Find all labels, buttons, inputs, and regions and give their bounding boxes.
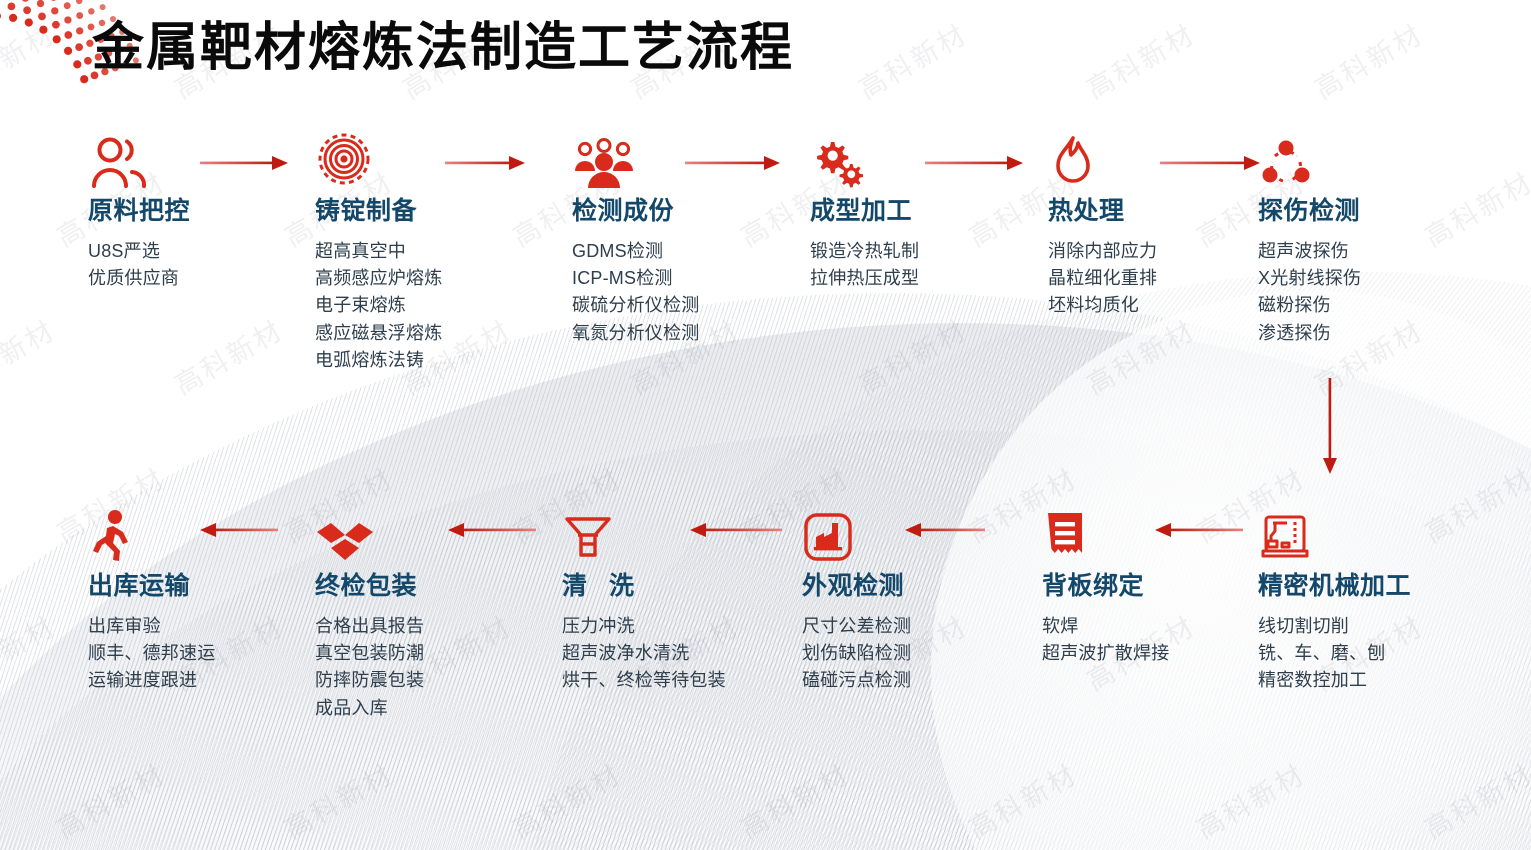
step-title: 出库运输 xyxy=(88,573,298,601)
step-item: 运输进度跟进 xyxy=(88,667,298,694)
step-item: 碳硫分析仪检测 xyxy=(572,292,782,319)
step-item-list: 超高真空中高频感应炉熔炼电子束熔炼感应磁悬浮熔炼电弧熔炼法铸 xyxy=(315,238,525,375)
step-item: 磁粉探伤 xyxy=(1258,292,1468,319)
step-item: 坯料均质化 xyxy=(1048,292,1258,319)
step-item: 电弧熔炼法铸 xyxy=(315,347,525,374)
step-item: 成品入库 xyxy=(315,695,525,722)
step-item-list: 软焊超声波扩散焊接 xyxy=(1042,613,1252,668)
step-title: 探伤检测 xyxy=(1258,198,1468,226)
flow-arrow-right-4 xyxy=(925,154,1023,172)
step-item: 划伤缺陷检测 xyxy=(802,640,1012,667)
step-item: X光射线探伤 xyxy=(1258,265,1468,292)
step-title: 外观检测 xyxy=(802,573,1012,601)
flow-arrow-left-1 xyxy=(200,521,278,539)
step-item: 电子束熔炼 xyxy=(315,292,525,319)
step-title: 检测成份 xyxy=(572,198,782,226)
step-title: 背板绑定 xyxy=(1042,573,1252,601)
step-item-list: 尺寸公差检测划伤缺陷检测磕碰污点检测 xyxy=(802,613,1012,695)
flow-arrow-right-3 xyxy=(685,154,780,172)
flow-arrow-left-2 xyxy=(448,521,536,539)
step-item: GDMS检测 xyxy=(572,238,782,265)
process-step-precision-machining[interactable]: 精密机械加工线切割切削铣、车、磨、刨精密数控加工 xyxy=(1258,505,1468,695)
step-item: 顺丰、德邦速运 xyxy=(88,640,298,667)
step-item: 氧氮分析仪检测 xyxy=(572,320,782,347)
step-item: 超声波净水清洗 xyxy=(562,640,772,667)
step-item-list: 合格出具报告真空包装防潮防摔防震包装成品入库 xyxy=(315,613,525,722)
process-step-flaw-detection[interactable]: 探伤检测超声波探伤X光射线探伤磁粉探伤渗透探伤 xyxy=(1258,130,1468,347)
step-item-list: 压力冲洗超声波净水清洗烘干、终检等待包装 xyxy=(562,613,772,695)
flow-arrow-left-4 xyxy=(905,521,985,539)
step-item: 锻造冷热轧制 xyxy=(810,238,1020,265)
step-item: 真空包装防潮 xyxy=(315,640,525,667)
step-title: 成型加工 xyxy=(810,198,1020,226)
step-item-list: GDMS检测ICP-MS检测碳硫分析仪检测氧氮分析仪检测 xyxy=(572,238,782,347)
step-title: 终检包装 xyxy=(315,573,525,601)
step-item: 高频感应炉熔炼 xyxy=(315,265,525,292)
step-title: 原料把控 xyxy=(88,198,298,226)
step-title: 精密机械加工 xyxy=(1258,573,1468,601)
step-item: 磕碰污点检测 xyxy=(802,667,1012,694)
step-item: 尺寸公差检测 xyxy=(802,613,1012,640)
step-item: 消除内部应力 xyxy=(1048,238,1258,265)
step-item: 精密数控加工 xyxy=(1258,667,1468,694)
flow-arrow-left-5 xyxy=(1155,521,1243,539)
step-item: 超声波扩散焊接 xyxy=(1042,640,1252,667)
step-item: 出库审验 xyxy=(88,613,298,640)
step-item: 晶粒细化重排 xyxy=(1048,265,1258,292)
cnc-machine-icon xyxy=(1258,505,1468,563)
step-item-list: 锻造冷热轧制拉伸热压成型 xyxy=(810,238,1020,293)
step-item: 拉伸热压成型 xyxy=(810,265,1020,292)
step-item: 感应磁悬浮熔炼 xyxy=(315,320,525,347)
step-item-list: 线切割切削铣、车、磨、刨精密数控加工 xyxy=(1258,613,1468,695)
step-item: 烘干、终检等待包装 xyxy=(562,667,772,694)
step-item: 防摔防震包装 xyxy=(315,667,525,694)
step-item: 优质供应商 xyxy=(88,265,298,292)
step-item: U8S严选 xyxy=(88,238,298,265)
flow-arrow-right-5 xyxy=(1160,154,1260,172)
step-item: 铣、车、磨、刨 xyxy=(1258,640,1468,667)
process-flow: 原料把控U8S严选优质供应商 铸锭制备超高真空中高频感应炉熔炼电子束熔炼感应磁悬… xyxy=(0,0,1531,850)
flow-arrow-down xyxy=(1321,378,1339,479)
step-title: 热处理 xyxy=(1048,198,1258,226)
step-item: 线切割切削 xyxy=(1258,613,1468,640)
step-item: 超高真空中 xyxy=(315,238,525,265)
step-item: ICP-MS检测 xyxy=(572,265,782,292)
flow-arrow-right-2 xyxy=(445,154,525,172)
step-item: 压力冲洗 xyxy=(562,613,772,640)
step-item-list: 超声波探伤X光射线探伤磁粉探伤渗透探伤 xyxy=(1258,238,1468,347)
flow-arrow-left-3 xyxy=(690,521,782,539)
step-item-list: 消除内部应力晶粒细化重排坯料均质化 xyxy=(1048,238,1258,320)
step-item: 软焊 xyxy=(1042,613,1252,640)
step-title: 清洗 xyxy=(562,573,772,601)
step-item: 超声波探伤 xyxy=(1258,238,1468,265)
step-item: 合格出具报告 xyxy=(315,613,525,640)
page-title: 金属靶材熔炼法制造工艺流程 xyxy=(92,5,794,80)
flow-arrow-right-1 xyxy=(200,154,288,172)
step-title: 铸锭制备 xyxy=(315,198,525,226)
step-item: 渗透探伤 xyxy=(1258,320,1468,347)
step-item-list: U8S严选优质供应商 xyxy=(88,238,298,293)
step-item-list: 出库审验顺丰、德邦速运运输进度跟进 xyxy=(88,613,298,695)
three-dots-triangle-icon xyxy=(1258,130,1468,188)
